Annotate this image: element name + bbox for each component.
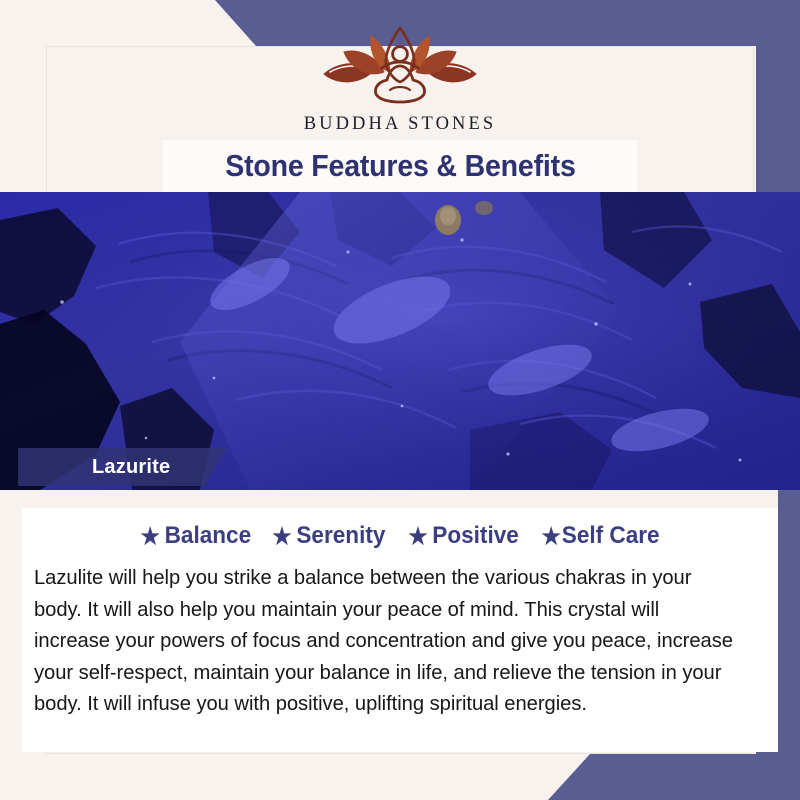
brand-wordmark: BUDDHA STONES: [304, 114, 497, 135]
benefit-item-serenity: ★ Serenity: [262, 522, 385, 550]
content-card: ★ Balance ★ Serenity ★ Positive ★ Self C…: [22, 490, 778, 752]
benefit-item-balance: ★ Balance: [140, 522, 251, 550]
benefit-label: Self Care: [561, 522, 659, 550]
card-top-strip: [22, 490, 778, 508]
star-icon: ★: [541, 525, 560, 548]
stone-description: Lazulite will help you strike a balance …: [34, 562, 739, 720]
lotus-meditation-figure-icon: [316, 22, 484, 108]
star-icon: ★: [408, 525, 427, 548]
benefit-label: Serenity: [297, 522, 386, 550]
benefit-label: Positive: [432, 522, 519, 550]
star-icon: ★: [140, 525, 159, 548]
benefit-item-self-care: ★ Self Care: [531, 522, 659, 550]
stone-name-text: Lazurite: [92, 456, 170, 479]
poster-canvas: BUDDHA STONES Stone Features & Benefits: [0, 0, 800, 800]
benefit-item-positive: ★ Positive: [398, 522, 519, 550]
star-icon: ★: [273, 525, 292, 548]
page-title: Stone Features & Benefits: [225, 148, 575, 184]
benefit-label: Balance: [164, 522, 251, 550]
benefits-row: ★ Balance ★ Serenity ★ Positive ★ Self C…: [22, 522, 778, 550]
title-plate: Stone Features & Benefits: [163, 140, 637, 192]
stone-photo: [0, 192, 800, 490]
stone-name-label: Lazurite: [18, 448, 226, 486]
